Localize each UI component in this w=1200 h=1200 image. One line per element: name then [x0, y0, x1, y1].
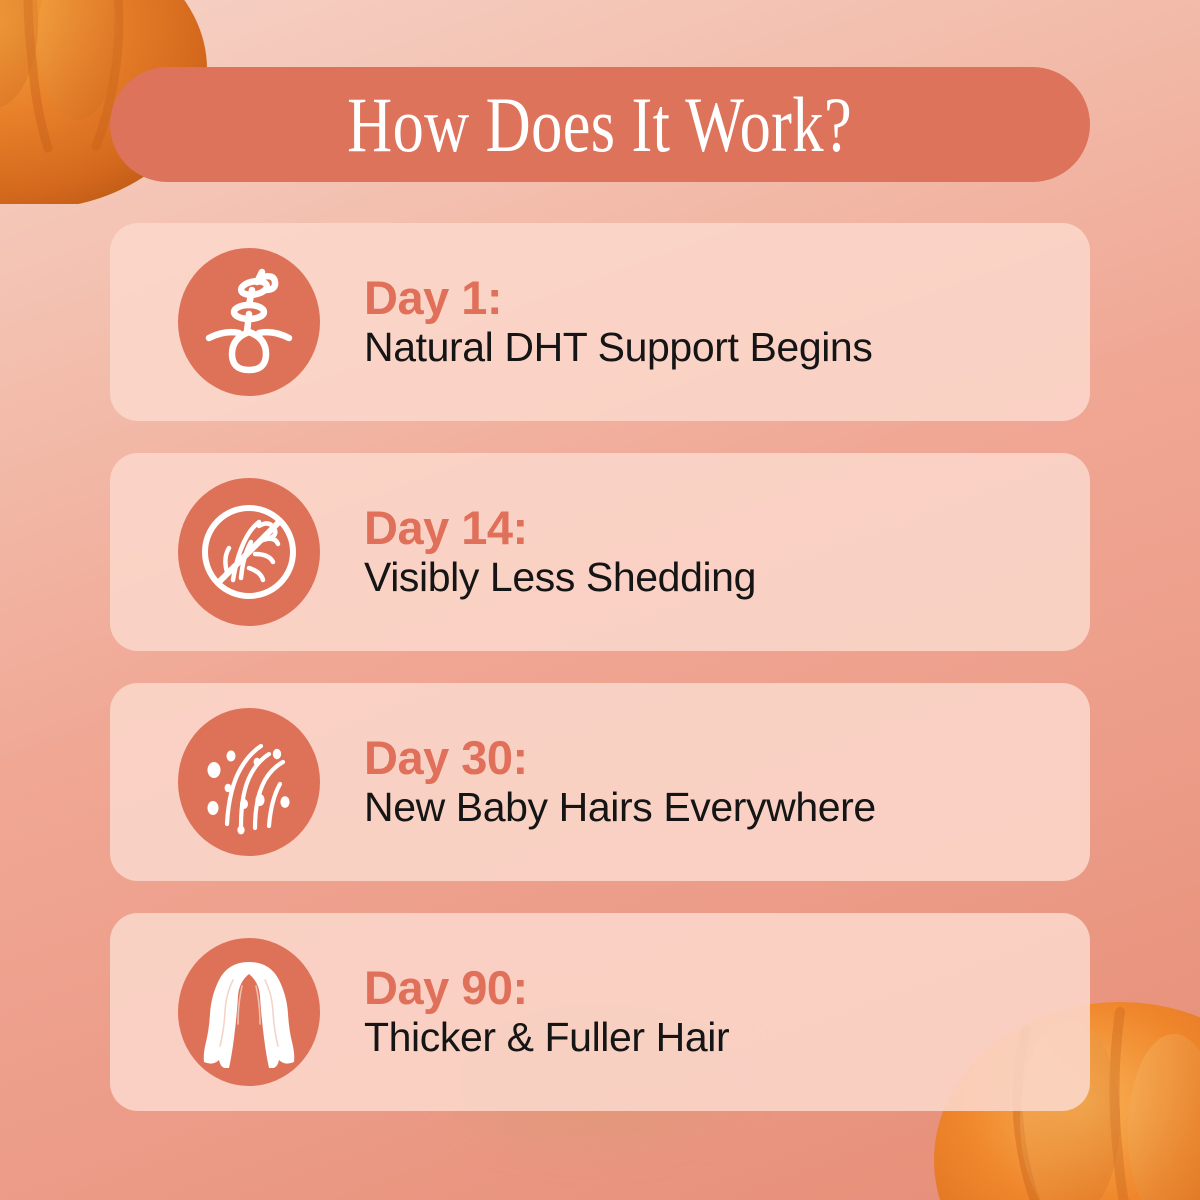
step-text-day-30: Day 30: New Baby Hairs Everywhere	[364, 733, 876, 832]
step-text-day-14: Day 14: Visibly Less Shedding	[364, 503, 756, 602]
step-card-day-30: Day 30: New Baby Hairs Everywhere	[110, 683, 1090, 881]
step-text-day-90: Day 90: Thicker & Fuller Hair	[364, 963, 729, 1062]
step-card-day-1: Day 1: Natural DHT Support Begins	[110, 223, 1090, 421]
step-text-day-1: Day 1: Natural DHT Support Begins	[364, 273, 872, 372]
day-description: Natural DHT Support Begins	[364, 325, 872, 371]
day-label: Day 1:	[364, 273, 872, 324]
day-description: New Baby Hairs Everywhere	[364, 785, 876, 831]
day-description: Visibly Less Shedding	[364, 555, 756, 601]
page-title-banner: How Does It Work?	[110, 67, 1090, 182]
hair-follicle-icon	[178, 248, 320, 396]
no-hair-fall-icon	[178, 478, 320, 626]
step-card-day-14: Day 14: Visibly Less Shedding	[110, 453, 1090, 651]
long-wavy-hair-icon	[178, 938, 320, 1086]
steps-list: Day 1: Natural DHT Support Begins	[110, 223, 1090, 1111]
day-label: Day 90:	[364, 963, 729, 1014]
day-label: Day 14:	[364, 503, 756, 554]
day-description: Thicker & Fuller Hair	[364, 1015, 729, 1061]
new-hair-growth-icon	[178, 708, 320, 856]
day-label: Day 30:	[364, 733, 876, 784]
step-card-day-90: Day 90: Thicker & Fuller Hair	[110, 913, 1090, 1111]
page-title: How Does It Work?	[348, 86, 853, 164]
how-it-works-infographic: How Does It Work?	[0, 0, 1200, 1200]
